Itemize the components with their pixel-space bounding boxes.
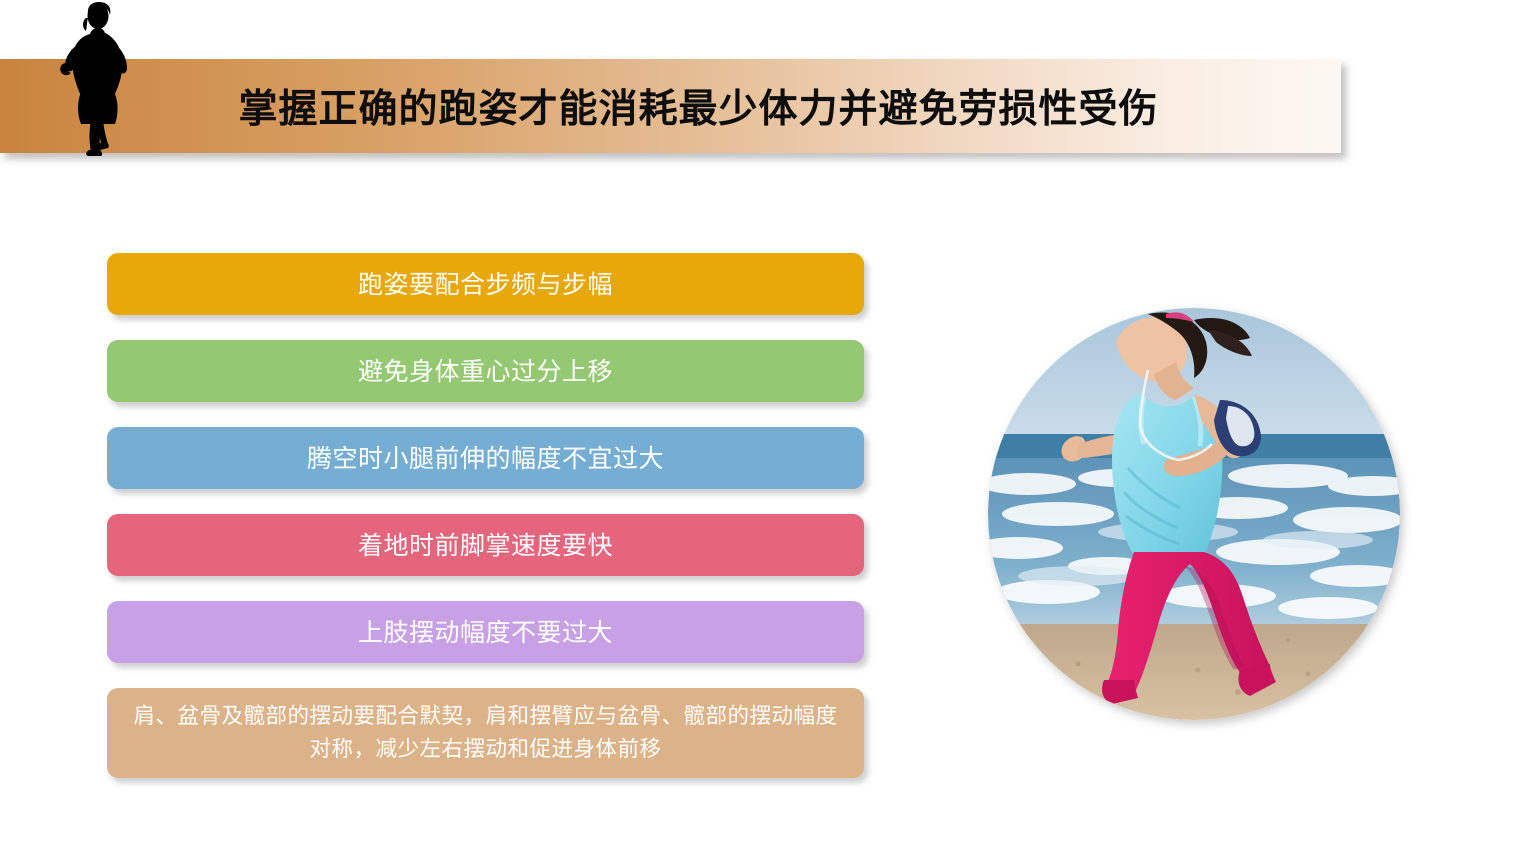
bar-label: 避免身体重心过分上移 bbox=[340, 353, 631, 390]
bar-label: 肩、盆骨及髋部的摆动要配合默契，肩和摆臂应与盆骨、髋部的摆动幅度对称，减少左右摆… bbox=[107, 700, 864, 766]
bar-shin-extension[interactable]: 腾空时小腿前伸的幅度不宜过大 bbox=[107, 427, 864, 489]
bar-label: 跑姿要配合步频与步幅 bbox=[340, 266, 631, 303]
title-banner: 掌握正确的跑姿才能消耗最少体力并避免劳损性受伤 bbox=[0, 59, 1341, 153]
bar-shoulder-pelvis-hip[interactable]: 肩、盆骨及髋部的摆动要配合默契，肩和摆臂应与盆骨、髋部的摆动幅度对称，减少左右摆… bbox=[107, 688, 864, 778]
running-woman-silhouette-icon bbox=[55, 2, 141, 157]
bar-label: 着地时前脚掌速度要快 bbox=[340, 527, 631, 564]
bar-center-of-gravity[interactable]: 避免身体重心过分上移 bbox=[107, 340, 864, 402]
bar-forefoot-landing[interactable]: 着地时前脚掌速度要快 bbox=[107, 514, 864, 576]
bar-label: 腾空时小腿前伸的幅度不宜过大 bbox=[289, 440, 682, 477]
bar-cadence-stride[interactable]: 跑姿要配合步频与步幅 bbox=[107, 253, 864, 315]
page-title: 掌握正确的跑姿才能消耗最少体力并避免劳损性受伤 bbox=[0, 59, 1341, 153]
bar-arm-swing[interactable]: 上肢摆动幅度不要过大 bbox=[107, 601, 864, 663]
slide-header: 掌握正确的跑姿才能消耗最少体力并避免劳损性受伤 bbox=[0, 0, 1513, 175]
points-list: 跑姿要配合步频与步幅 避免身体重心过分上移 腾空时小腿前伸的幅度不宜过大 着地时… bbox=[107, 253, 864, 803]
bar-label: 上肢摆动幅度不要过大 bbox=[340, 614, 631, 651]
beach-runner-photo bbox=[988, 308, 1400, 720]
